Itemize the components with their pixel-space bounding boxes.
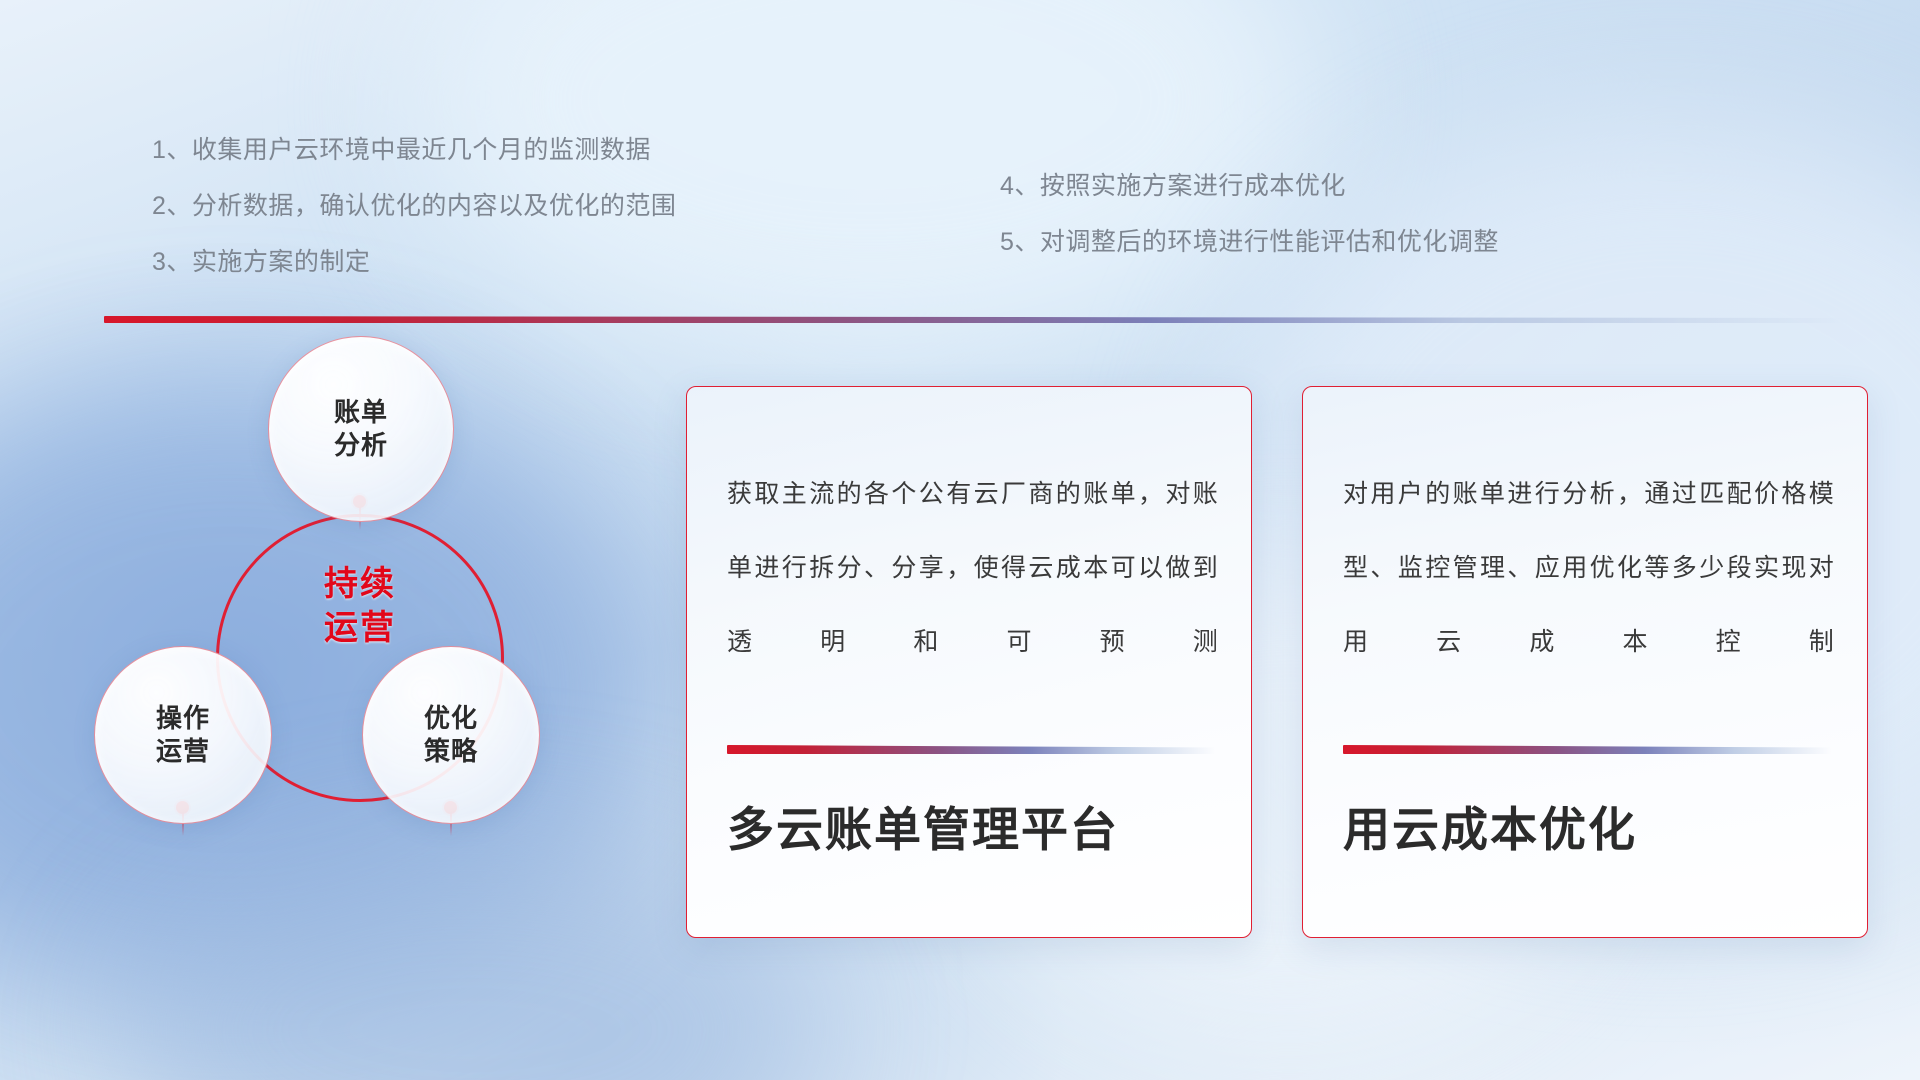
process-steps-right: 4、按照实施方案进行成本优化 5、对调整后的环境进行性能评估和优化调整: [1000, 158, 1499, 270]
diagram-node-optimization-strategy[interactable]: 优化 策略: [362, 646, 540, 824]
feature-card-title: 多云账单管理平台: [727, 791, 1119, 860]
diagram-node-label: 操作 运营: [156, 702, 210, 769]
diagram-center-line1: 持续: [324, 565, 396, 603]
feature-card-multi-cloud-billing[interactable]: 获取主流的各个公有云厂商的账单，对账单进行拆分、分享，使得云成本可以做到透明和可…: [686, 386, 1252, 938]
diagram-node-line2: 策略: [424, 736, 478, 766]
list-item-number: 1、: [152, 122, 192, 178]
list-item-number: 5、: [1000, 214, 1040, 270]
feature-card-divider: [727, 745, 1215, 754]
diagram-node-line1: 优化: [424, 703, 478, 733]
list-item-label: 分析数据，确认优化的内容以及优化的范围: [192, 192, 677, 220]
feature-card-title: 用云成本优化: [1343, 791, 1637, 860]
list-item: 2、分析数据，确认优化的内容以及优化的范围: [152, 178, 676, 234]
list-item-label: 实施方案的制定: [192, 248, 371, 276]
feature-card-body: 对用户的账单进行分析，通过匹配价格模型、监控管理、应用优化等多少段实现对用云成本…: [1343, 457, 1835, 679]
diagram-node-line1: 操作: [156, 703, 210, 733]
diagram-node-label: 优化 策略: [424, 702, 478, 769]
feature-card-divider: [1343, 745, 1831, 754]
feature-card-body: 获取主流的各个公有云厂商的账单，对账单进行拆分、分享，使得云成本可以做到透明和可…: [727, 457, 1219, 679]
list-item: 3、实施方案的制定: [152, 234, 676, 290]
slide-canvas: 1、收集用户云环境中最近几个月的监测数据 2、分析数据，确认优化的内容以及优化的…: [0, 0, 1920, 1080]
section-divider-rule: [104, 316, 1848, 323]
feature-card-cloud-cost-optimization[interactable]: 对用户的账单进行分析，通过匹配价格模型、监控管理、应用优化等多少段实现对用云成本…: [1302, 386, 1868, 938]
diagram-center-label: 持续 运营: [260, 562, 460, 650]
list-item-number: 2、: [152, 178, 192, 234]
diagram-center-line2: 运营: [324, 609, 396, 647]
list-item: 1、收集用户云环境中最近几个月的监测数据: [152, 122, 676, 178]
cycle-diagram: 持续 运营 账单 分析 操作 运营 优化 策略: [90, 352, 610, 942]
list-item-number: 4、: [1000, 158, 1040, 214]
diagram-node-billing-analysis[interactable]: 账单 分析: [268, 336, 454, 522]
list-item-label: 按照实施方案进行成本优化: [1040, 172, 1346, 200]
list-item: 4、按照实施方案进行成本优化: [1000, 158, 1499, 214]
list-item-label: 对调整后的环境进行性能评估和优化调整: [1040, 228, 1499, 256]
diagram-node-line2: 运营: [156, 736, 210, 766]
diagram-node-line2: 分析: [334, 430, 388, 460]
list-item: 5、对调整后的环境进行性能评估和优化调整: [1000, 214, 1499, 270]
diagram-node-label: 账单 分析: [334, 396, 388, 463]
diagram-node-operations[interactable]: 操作 运营: [94, 646, 272, 824]
diagram-node-line1: 账单: [334, 397, 388, 427]
list-item-label: 收集用户云环境中最近几个月的监测数据: [192, 136, 651, 164]
list-item-number: 3、: [152, 234, 192, 290]
process-steps-left: 1、收集用户云环境中最近几个月的监测数据 2、分析数据，确认优化的内容以及优化的…: [152, 122, 676, 290]
